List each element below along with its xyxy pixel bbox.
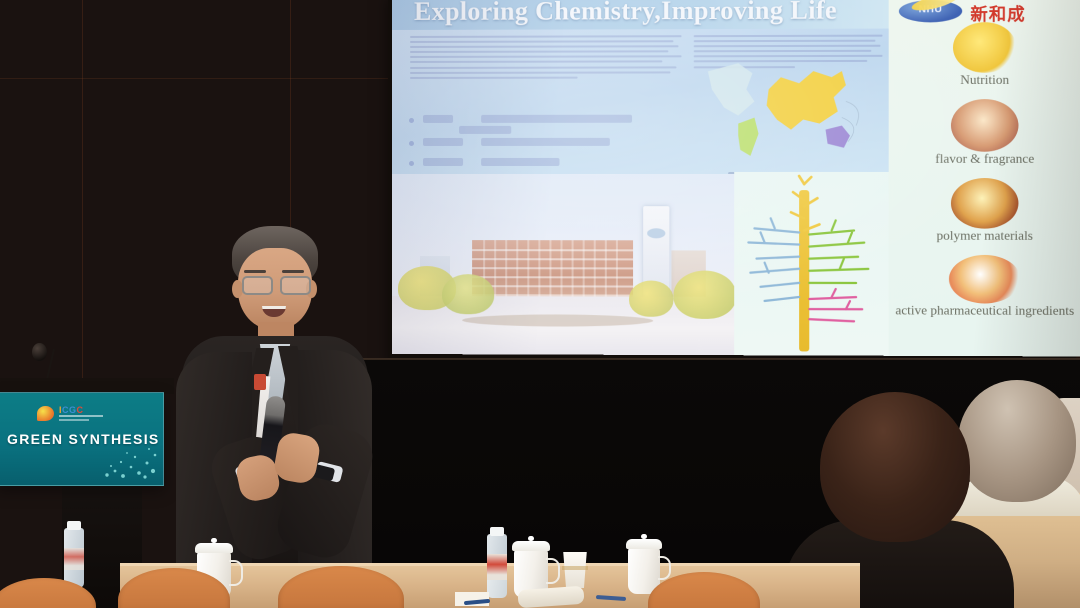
world-map-graphic (694, 37, 887, 173)
fragrance-icon (951, 99, 1019, 152)
building-floor-line (472, 285, 633, 287)
leaf-flame-icon (37, 406, 54, 421)
nutrition-capsules-icon (953, 22, 1016, 73)
bullet-value (481, 158, 559, 166)
bullet-value (481, 115, 632, 123)
audience-head (820, 392, 970, 542)
campus-tree (629, 280, 673, 316)
event-subtitle-line (59, 419, 89, 421)
tree-branch-blue (748, 218, 799, 301)
paragraph-line (410, 66, 676, 69)
paragraph-line (410, 51, 668, 54)
bullet-value-wrap (459, 126, 511, 134)
map-legend (720, 165, 872, 169)
event-logo: ICGC (37, 403, 109, 425)
product-category-api: active pharmaceutical ingredients (889, 255, 1080, 319)
paragraph-line (410, 35, 682, 38)
product-tree-diagram (734, 172, 888, 356)
product-category-fragrance: flavor & fragrance (889, 99, 1080, 167)
mug-handle (546, 558, 560, 584)
building-floor-line (472, 276, 633, 278)
paragraph-line (410, 40, 673, 43)
event-acronym: ICGC (59, 405, 84, 415)
mug-handle (229, 560, 243, 586)
list-item (409, 138, 701, 149)
category-label: polymer materials (889, 229, 1080, 244)
speaker-eyebrow (244, 270, 266, 273)
banner-dot-pattern (101, 447, 159, 481)
bullet-dot (409, 118, 414, 123)
conference-photo: Exploring Chemistry,Improving Life (0, 0, 1080, 608)
building-floor-line (472, 258, 633, 260)
tree-branch-gold (791, 176, 819, 230)
mug-lid (626, 539, 662, 549)
campus-tree (673, 271, 734, 319)
list-item (409, 158, 701, 169)
building-floor-line (472, 249, 633, 251)
paragraph-line (410, 76, 578, 78)
tower-logo (647, 228, 665, 238)
mug-lid (195, 543, 233, 553)
bottle-cap (67, 521, 81, 530)
bottle-label (487, 554, 507, 580)
podium-banner-text: GREEN SYNTHESIS (7, 431, 160, 447)
mug-handle (658, 556, 671, 580)
mug-knob (641, 534, 647, 539)
world-map-svg (694, 37, 887, 173)
tree-branches-svg (734, 172, 888, 356)
paragraph-line (410, 71, 671, 74)
slide-paragraph-left (410, 35, 682, 82)
map-region-australia (826, 126, 850, 148)
paragraph-line (410, 61, 662, 64)
nhu-logo: 新和成 (897, 0, 1077, 24)
bottle-label (64, 548, 84, 570)
eyeglasses-icon (280, 276, 311, 295)
map-region-south-america (738, 118, 758, 156)
building-floor-line (472, 267, 633, 269)
brand-product-column: 新和成 Nutrition flavor & fragrance polymer… (889, 0, 1080, 356)
category-label: Nutrition (889, 73, 1080, 88)
campus-photo (392, 174, 734, 355)
paper-cup-band (562, 566, 588, 570)
product-category-nutrition: Nutrition (889, 22, 1080, 88)
projection-screen: Exploring Chemistry,Improving Life (392, 0, 1080, 356)
bullet-key (423, 115, 453, 123)
map-region-eurasia-asia (767, 71, 846, 130)
map-region-north-america (708, 63, 755, 115)
slide-title: Exploring Chemistry,Improving Life (414, 0, 837, 27)
paragraph-line (410, 56, 682, 59)
bullet-dot (409, 141, 414, 146)
mug-lid (512, 541, 550, 551)
product-category-polymer: polymer materials (889, 178, 1080, 244)
category-label: flavor & fragrance (889, 152, 1080, 167)
mug-knob (528, 536, 534, 541)
eyeglasses-icon (242, 276, 273, 295)
podium-banner: ICGC GREEN SYNTHESIS (0, 392, 164, 486)
polymer-icon (951, 178, 1019, 229)
list-item (409, 115, 701, 126)
speaker-eyebrow (282, 270, 304, 273)
tree-branch-pink (809, 289, 862, 321)
mug-knob (211, 538, 217, 543)
bottle-cap (490, 527, 504, 536)
event-subtitle-line (59, 415, 103, 417)
campus-tree (442, 274, 494, 314)
badge-icon (254, 374, 266, 390)
category-label: active pharmaceutical ingredients (889, 303, 1080, 319)
api-icon (949, 255, 1021, 304)
bullet-key (423, 158, 463, 166)
paragraph-line (410, 45, 679, 48)
bullet-dot (409, 161, 414, 166)
bullet-value (481, 138, 610, 146)
bullet-key (423, 138, 463, 146)
tree-branch-green (809, 220, 868, 283)
podium-microphone-icon (32, 343, 47, 361)
